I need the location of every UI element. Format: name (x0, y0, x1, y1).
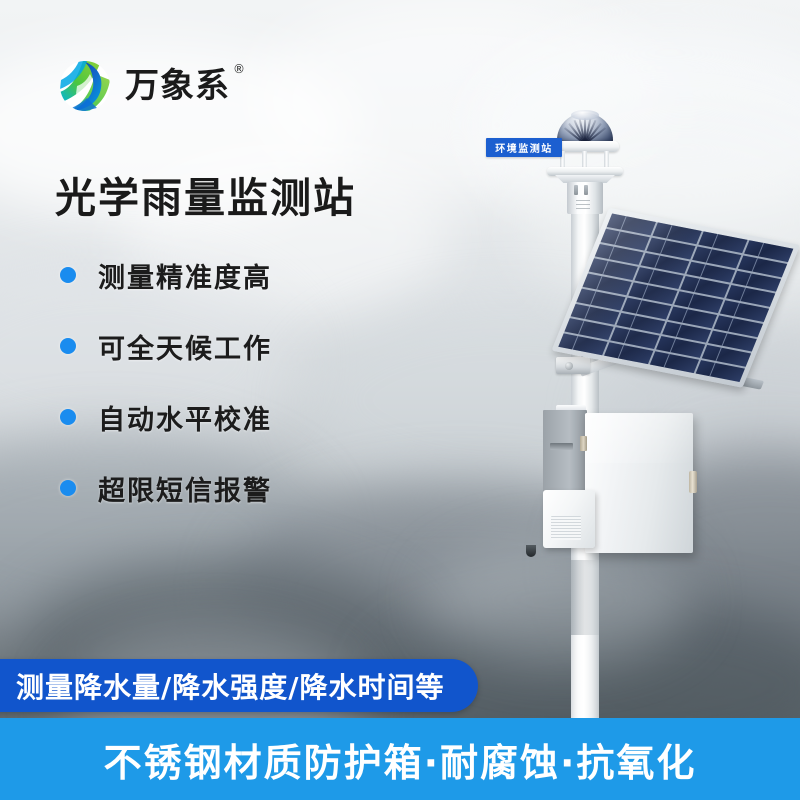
panel-cell-grid (558, 213, 793, 381)
dome-highlight (571, 110, 599, 120)
sensor-mid-plate (547, 167, 623, 176)
cabinet-sheen (585, 413, 693, 463)
sensor-bolt (574, 185, 578, 195)
capability-banner: 测量降水量/降水强度/降水时间等 (0, 659, 478, 712)
feature-item: 测量精准度高 (60, 262, 272, 288)
pole-shadow (571, 560, 599, 635)
feature-item: 可全天候工作 (60, 333, 272, 359)
cabinet-vent-icon (550, 443, 573, 450)
bottom-tagline-text: 不锈钢材质防护箱·耐腐蚀·抗氧化 (104, 732, 697, 787)
feature-label: 自动水平校准 (98, 398, 272, 437)
side-module (543, 490, 595, 548)
brand-name-text: 万象系 (125, 66, 230, 106)
sensor-post (604, 151, 609, 168)
control-cabinet (585, 413, 693, 553)
bullet-dot-icon (60, 409, 76, 425)
feature-item: 自动水平校准 (60, 404, 272, 430)
brand-logo: 万象系 ® (57, 58, 230, 114)
cabinet-label-text: 环境监测站 (495, 140, 553, 155)
feature-list: 测量精准度高 可全天候工作 自动水平校准 超限短信报警 (60, 262, 272, 546)
bullet-dot-icon (60, 267, 76, 283)
registered-mark-icon: ® (233, 63, 246, 75)
cabinet-hinge (580, 436, 587, 451)
panel-frame (551, 208, 800, 388)
poster-canvas: 环境监测站 (0, 0, 800, 800)
feature-label: 可全天候工作 (98, 327, 272, 366)
feature-item: 超限短信报警 (60, 475, 272, 501)
page-title: 光学雨量监测站 (55, 164, 356, 224)
solar-panel (566, 208, 789, 397)
sensor-bolt (584, 185, 588, 195)
cabinet-latch (689, 471, 697, 493)
bottom-tagline-bar: 不锈钢材质防护箱·耐腐蚀·抗氧化 (0, 718, 800, 800)
monitoring-station-product: 环境监测站 (470, 105, 800, 725)
cable-gland-icon (526, 545, 536, 557)
globe-swirl-logo-icon (57, 58, 113, 114)
feature-label: 测量精准度高 (98, 256, 272, 295)
sensor-post (582, 151, 587, 168)
capability-banner-text: 测量降水量/降水强度/降水时间等 (16, 666, 444, 706)
bullet-dot-icon (60, 480, 76, 496)
feature-label: 超限短信报警 (98, 469, 272, 508)
bullet-dot-icon (60, 338, 76, 354)
cabinet-name-plate: 环境监测站 (486, 138, 562, 157)
sensor-marking (576, 200, 590, 209)
module-grill-icon (551, 516, 581, 540)
brand-name: 万象系 ® (125, 69, 230, 103)
